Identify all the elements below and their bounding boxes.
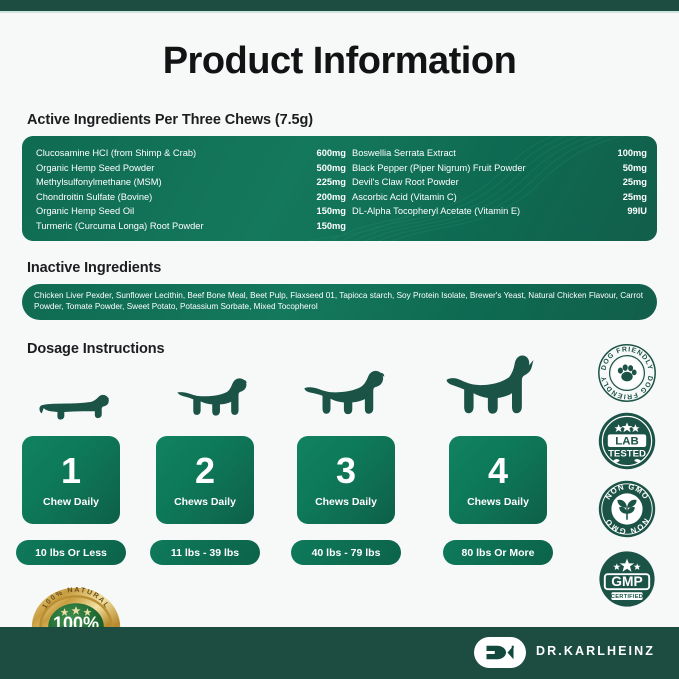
- ingredient-amount: 200mg: [317, 190, 346, 205]
- ingredient-amount: 150mg: [317, 204, 346, 219]
- product-information-label: Product Information Active Ingredients P…: [0, 0, 679, 679]
- top-hairline: [0, 11, 679, 13]
- active-ingredients-heading: Active Ingredients Per Three Chews (7.5g…: [27, 112, 313, 128]
- dosage-label: Chews Daily: [467, 496, 529, 508]
- weight-range-4: 80 lbs Or More: [443, 540, 553, 565]
- inactive-ingredients-text: Chicken Liver Pexder, Sunflower Lecithin…: [34, 290, 645, 312]
- ingredient-amount: 25mg: [623, 175, 647, 190]
- ingredient-name: Clucosamine HCI (from Shimp & Crab): [36, 146, 196, 161]
- ingredient-row: Black Pepper (Piper Nigrum) Fruit Powder…: [352, 161, 647, 176]
- ingredient-amount: 100mg: [618, 146, 647, 161]
- brand-logo: [474, 637, 526, 668]
- ingredient-amount: 600mg: [317, 146, 346, 161]
- badge-line2: TESTED: [608, 449, 646, 460]
- lab-tested-badge: LAB TESTED: [597, 411, 657, 471]
- dog-silhouette-large: [300, 363, 392, 428]
- dosage-number: 2: [195, 453, 215, 489]
- ingredient-name: Boswellia Serrata Extract: [352, 146, 456, 161]
- weight-range-2: 11 lbs - 39 lbs: [150, 540, 260, 565]
- badge-line2: CERTIFIED: [611, 594, 643, 600]
- dosage-instructions-heading: Dosage Instructions: [27, 341, 165, 357]
- badge-line1: LAB: [615, 435, 638, 447]
- ingredient-row: Devil's Claw Root Powder 25mg: [352, 175, 647, 190]
- top-accent-bar: [0, 0, 679, 11]
- ingredient-name: Organic Hemp Seed Powder: [36, 161, 154, 176]
- dog-silhouette-medium: [172, 370, 254, 428]
- ingredient-amount: 225mg: [317, 175, 346, 190]
- ingredient-row: Clucosamine HCI (from Shimp & Crab) 600m…: [36, 146, 346, 161]
- ingredient-row: Chondroitin Sulfate (Bovine) 200mg: [36, 190, 346, 205]
- brand-name: DR.KARLHEINZ: [536, 644, 655, 658]
- ingredient-name: Organic Hemp Seed Oil: [36, 204, 134, 219]
- non-gmo-badge: NON GMO NON GMO: [597, 479, 657, 539]
- dog-silhouette-small: [36, 386, 114, 428]
- ingredient-row: Methylsulfonylmethane (MSM) 225mg: [36, 175, 346, 190]
- weight-range-1: 10 lbs Or Less: [16, 540, 126, 565]
- badge-line1: GMP: [611, 574, 642, 589]
- ingredient-row: Organic Hemp Seed Powder 500mg: [36, 161, 346, 176]
- active-ingredients-panel: Clucosamine HCI (from Shimp & Crab) 600m…: [22, 136, 657, 241]
- dog-silhouette-xlarge: [442, 352, 540, 428]
- weight-range-3: 40 lbs - 79 lbs: [291, 540, 401, 565]
- dog-friendly-badge: DOG FRIENDLY DOG FRIENDLY: [597, 343, 657, 403]
- ingredient-name: Devil's Claw Root Powder: [352, 175, 459, 190]
- dosage-number: 1: [61, 453, 81, 489]
- ingredient-row: Turmeric (Curcuma Longa) Root Powder 150…: [36, 219, 346, 234]
- ingredient-amount: 150mg: [317, 219, 346, 234]
- ingredient-name: Black Pepper (Piper Nigrum) Fruit Powder: [352, 161, 526, 176]
- ingredient-name: DL-Alpha Tocopheryl Acetate (Vitamin E): [352, 204, 520, 219]
- ingredient-row: DL-Alpha Tocopheryl Acetate (Vitamin E) …: [352, 204, 647, 219]
- dosage-card-2: 2 Chews Daily: [156, 436, 254, 524]
- ingredient-row: Organic Hemp Seed Oil 150mg: [36, 204, 346, 219]
- ingredient-amount: 500mg: [317, 161, 346, 176]
- ingredient-amount: 99IU: [627, 204, 647, 219]
- active-ingredients-column-right: Boswellia Serrata Extract 100mg Black Pe…: [352, 146, 647, 219]
- page-title: Product Information: [0, 40, 679, 83]
- dosage-label: Chews Daily: [315, 496, 377, 508]
- dosage-number: 4: [488, 453, 508, 489]
- ingredient-row: Ascorbic Acid (Vitamin C) 25mg: [352, 190, 647, 205]
- dosage-card-3: 3 Chews Daily: [297, 436, 395, 524]
- ingredient-name: Methylsulfonylmethane (MSM): [36, 175, 162, 190]
- inactive-ingredients-heading: Inactive Ingredients: [27, 260, 161, 276]
- dosage-card-1: 1 Chew Daily: [22, 436, 120, 524]
- dosage-card-4: 4 Chews Daily: [449, 436, 547, 524]
- dosage-label: Chews Daily: [174, 496, 236, 508]
- ingredient-amount: 50mg: [623, 161, 647, 176]
- ingredient-name: Ascorbic Acid (Vitamin C): [352, 190, 457, 205]
- gmp-certified-badge: GMP CERTIFIED: [597, 549, 657, 609]
- ingredient-amount: 25mg: [623, 190, 647, 205]
- dk-monogram-icon: [485, 644, 515, 661]
- dosage-label: Chew Daily: [43, 496, 99, 508]
- active-ingredients-column-left: Clucosamine HCI (from Shimp & Crab) 600m…: [36, 146, 346, 234]
- ingredient-name: Turmeric (Curcuma Longa) Root Powder: [36, 219, 204, 234]
- ingredient-row: Boswellia Serrata Extract 100mg: [352, 146, 647, 161]
- dosage-number: 3: [336, 453, 356, 489]
- ingredient-name: Chondroitin Sulfate (Bovine): [36, 190, 152, 205]
- inactive-ingredients-panel: Chicken Liver Pexder, Sunflower Lecithin…: [22, 284, 657, 320]
